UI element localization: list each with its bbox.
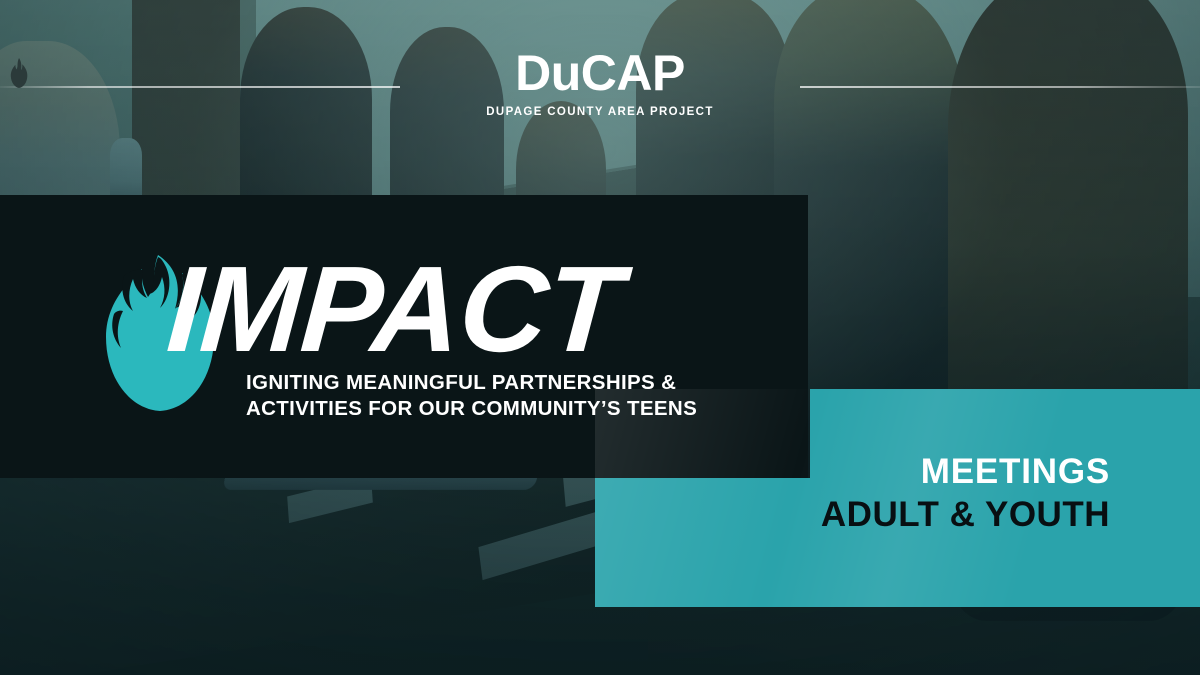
promo-banner: DuCAP DUPAGE COUNTY AREA PROJECT IMPACT … [0, 0, 1200, 675]
impact-tagline: IGNITING MEANINGFUL PARTNERSHIPS & ACTIV… [246, 370, 697, 422]
impact-tagline-line1: IGNITING MEANINGFUL PARTNERSHIPS & [246, 371, 676, 394]
meetings-lockup: MEETINGS ADULT & YOUTH [821, 452, 1110, 534]
impact-title: IMPACT [164, 248, 625, 370]
impact-lockup: IMPACT IGNITING MEANINGFUL PARTNERSHIPS … [96, 248, 736, 423]
meetings-heading: MEETINGS [821, 452, 1110, 491]
meetings-subheading: ADULT & YOUTH [821, 495, 1110, 534]
divider-rule-left [0, 86, 400, 88]
impact-tagline-line2: ACTIVITIES FOR OUR COMMUNITY’S TEENS [246, 397, 697, 420]
divider-rule-right [800, 86, 1200, 88]
